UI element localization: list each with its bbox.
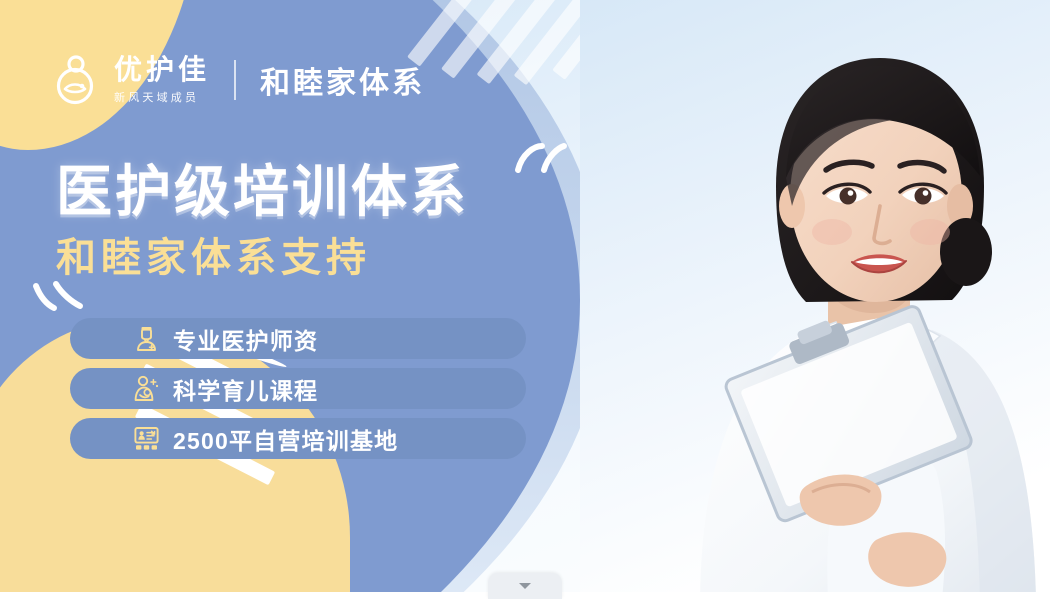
feature-label-2: 科学育儿课程 bbox=[173, 372, 318, 406]
nurse-photo bbox=[580, 0, 1050, 599]
hero-text-block: 医护级培训体系 和睦家体系支持 bbox=[56, 160, 469, 282]
feature-pill-1[interactable]: 专业医护师资 bbox=[70, 318, 526, 359]
brand-tagline: 新风天域成员 bbox=[114, 89, 199, 105]
partner-brand-name: 和睦家体系 bbox=[260, 58, 425, 102]
page-subtitle: 和睦家体系支持 bbox=[56, 234, 469, 282]
feature-label-1: 专业医护师资 bbox=[173, 322, 318, 356]
feature-pill-2[interactable]: 科学育儿课程 bbox=[70, 368, 526, 409]
mother-and-baby-logo-icon bbox=[52, 55, 100, 105]
feature-list: 专业医护师资 科学育儿课程 bbox=[70, 318, 526, 459]
classroom-icon bbox=[133, 425, 160, 452]
scroll-down-tab[interactable] bbox=[488, 573, 562, 599]
brand-name: 优护佳 bbox=[114, 55, 210, 84]
parent-baby-icon bbox=[133, 375, 160, 402]
hero-banner: 优护佳 新风天域成员 和睦家体系 医护级培训体系 和睦家体系支持 专业医护师资 bbox=[0, 0, 1050, 599]
page-title: 医护级培训体系 bbox=[56, 160, 469, 224]
brand-divider bbox=[234, 60, 236, 100]
feature-pill-3[interactable]: 2500平自营培训基地 bbox=[70, 418, 526, 459]
brand-logo-row[interactable]: 优护佳 新风天域成员 和睦家体系 bbox=[52, 55, 425, 105]
chevron-down-icon bbox=[517, 581, 533, 591]
feature-label-3: 2500平自营培训基地 bbox=[173, 422, 398, 456]
nurse-icon bbox=[133, 325, 160, 352]
